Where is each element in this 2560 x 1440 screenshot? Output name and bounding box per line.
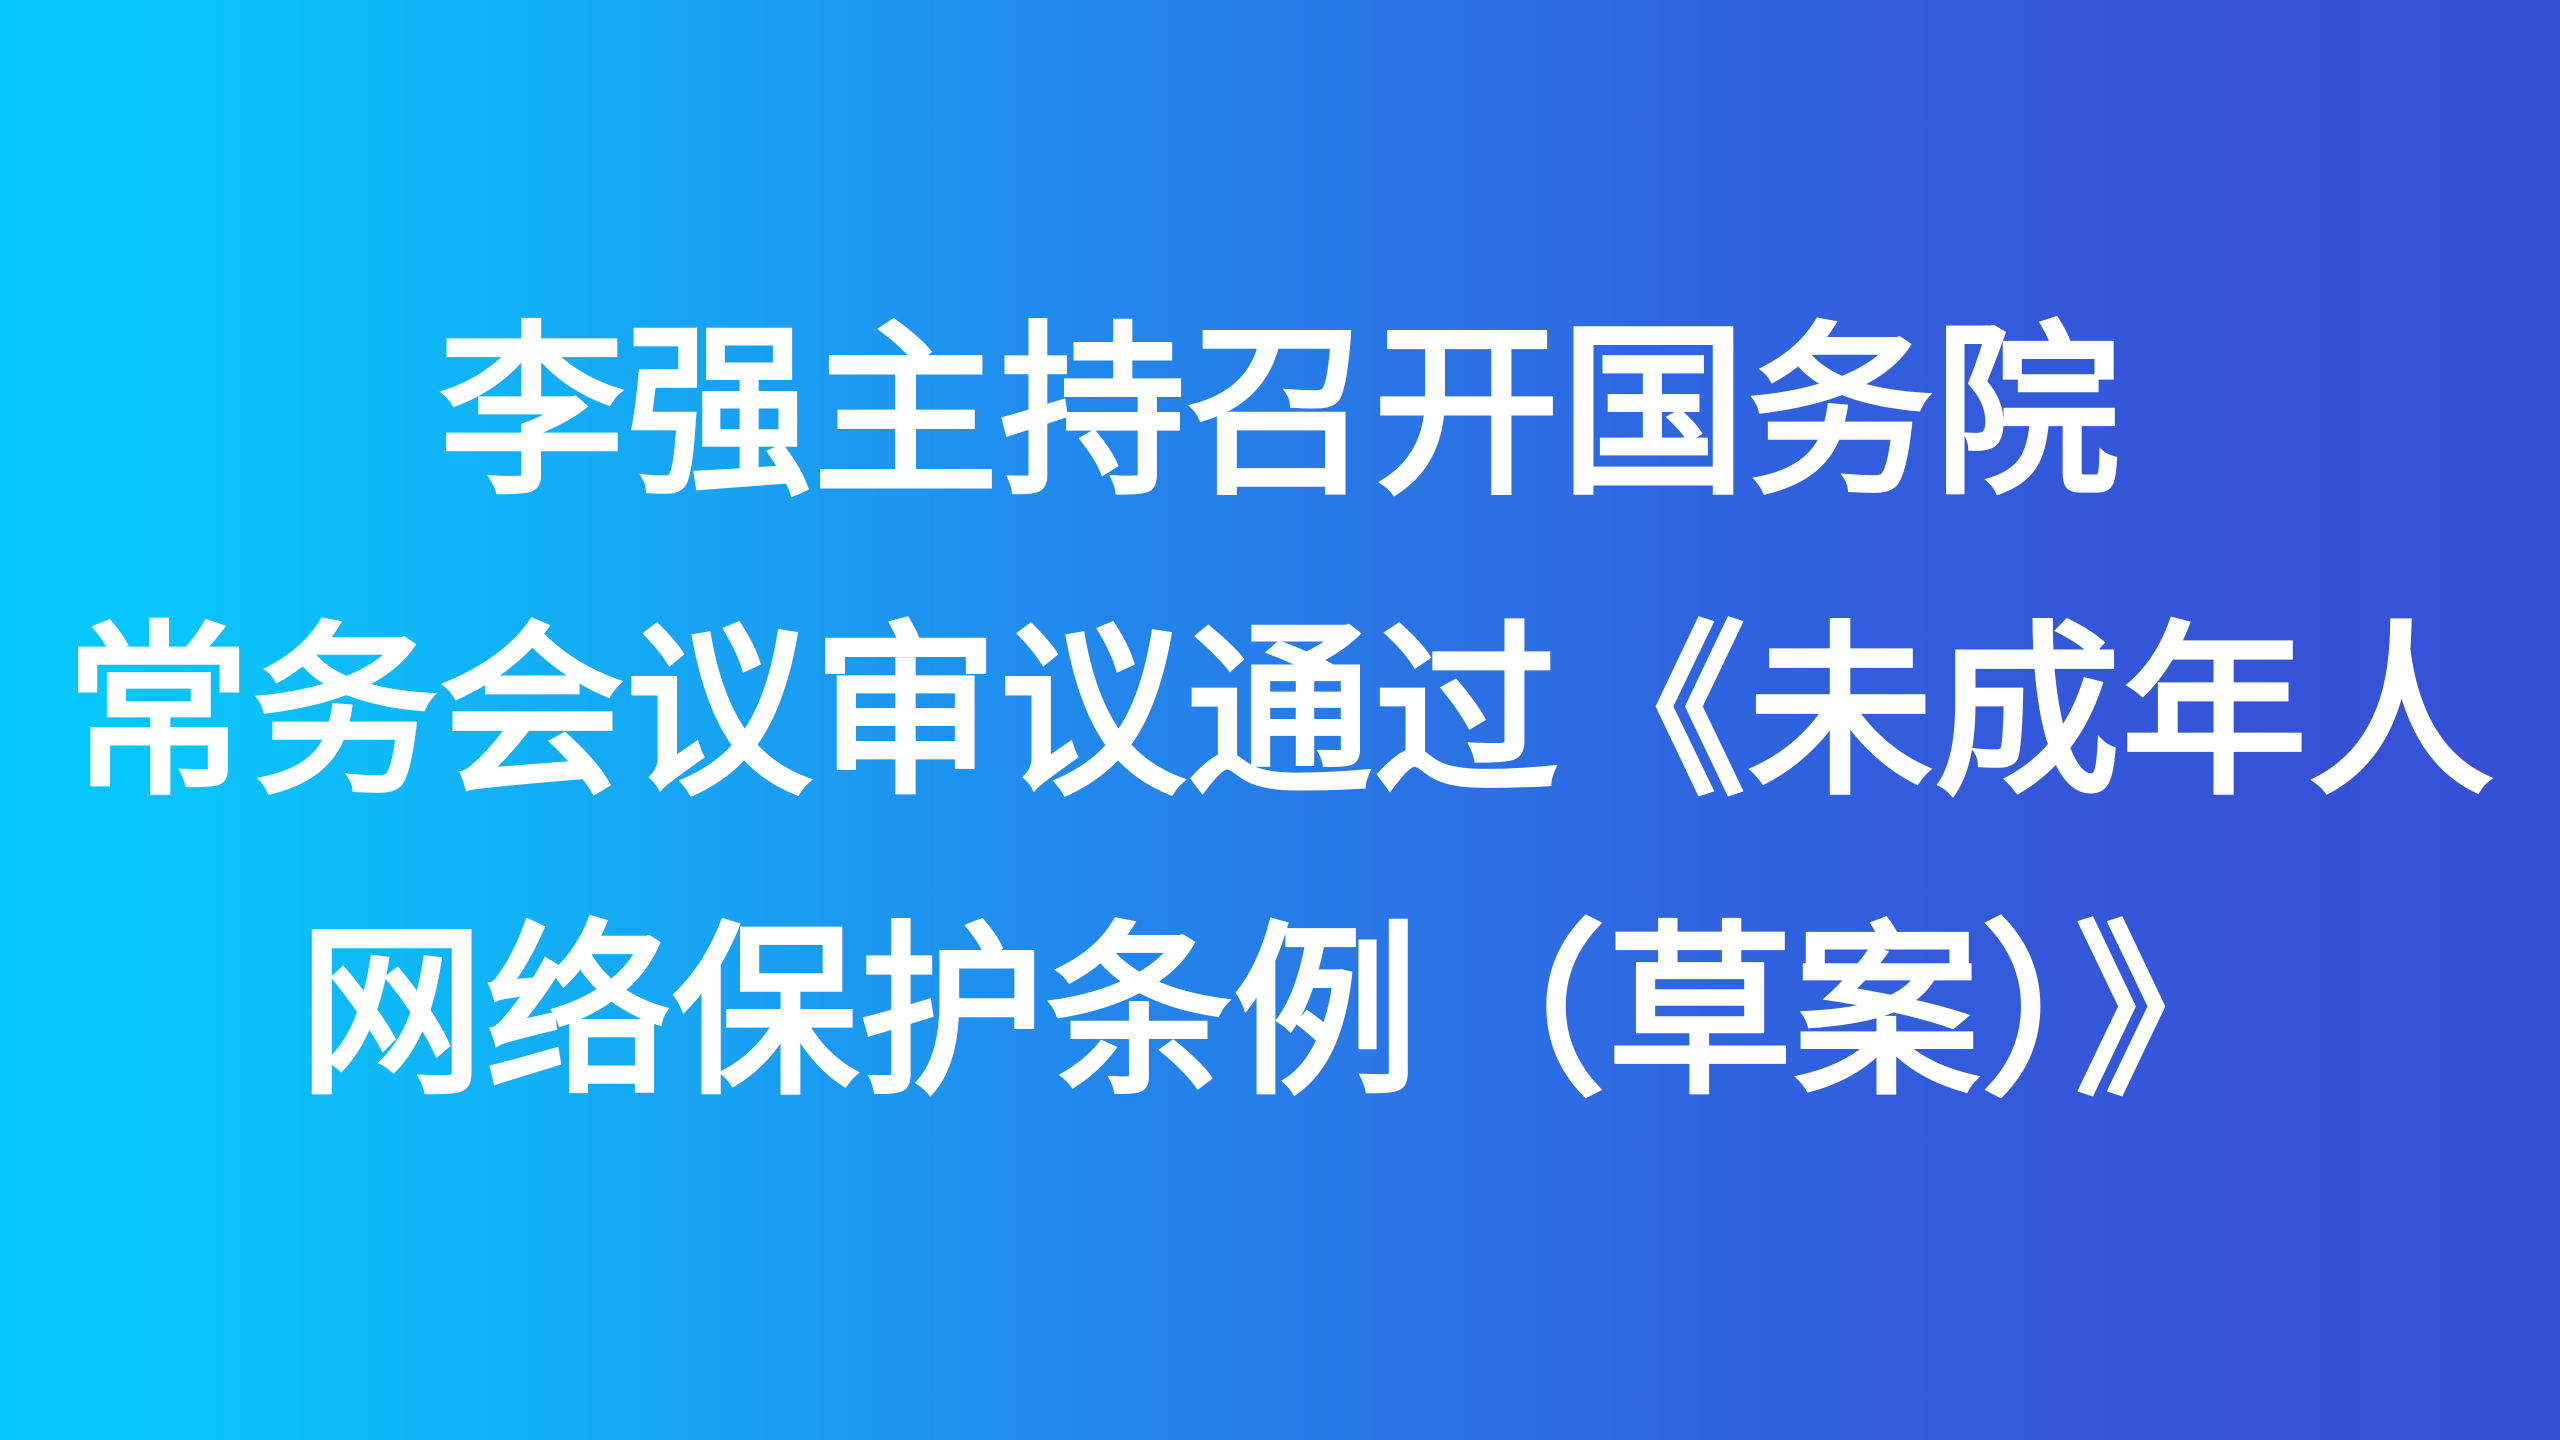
headline-line-3: 网络保护条例（草案）》	[65, 863, 2495, 1163]
headline-block: 李强主持召开国务院 常务会议审议通过《未成年人 网络保护条例（草案）》	[65, 138, 2495, 1287]
headline-line-2: 常务会议审议通过《未成年人	[65, 563, 2495, 863]
headline-line-1: 李强主持召开国务院	[65, 263, 2495, 563]
page-title: 李强主持召开国务院 常务会议审议通过《未成年人 网络保护条例（草案）》	[65, 263, 2495, 1163]
poster-canvas: 李强主持召开国务院 常务会议审议通过《未成年人 网络保护条例（草案）》	[0, 0, 2560, 1440]
